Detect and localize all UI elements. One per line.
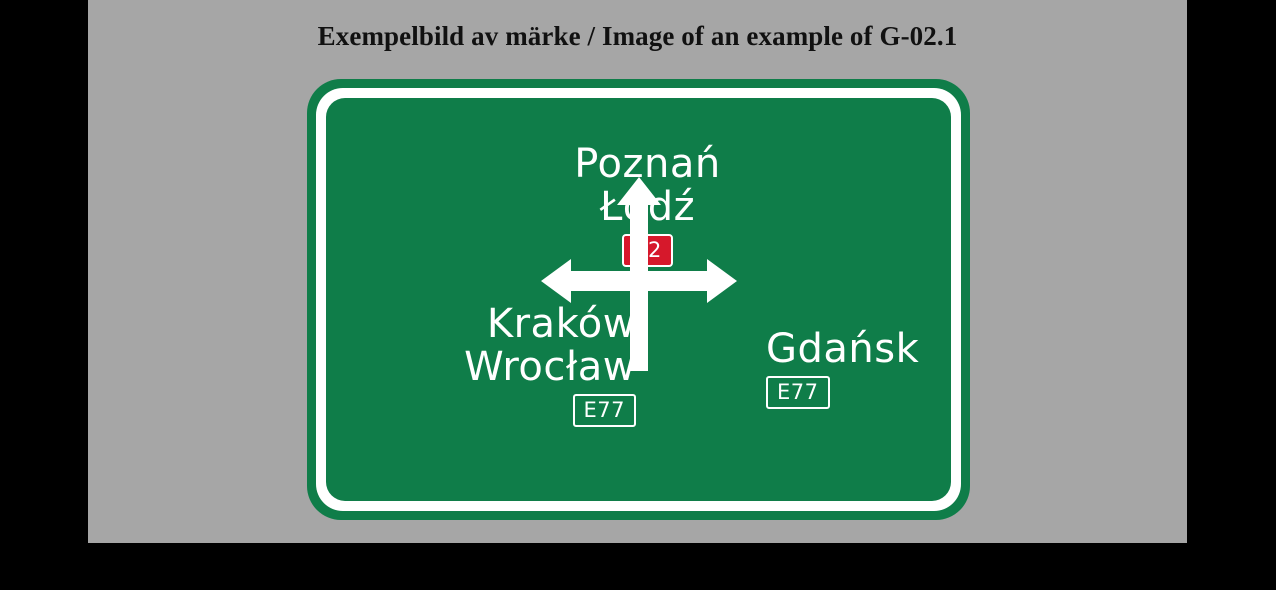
image-canvas: Exempelbild av märke / Image of an examp… bbox=[88, 0, 1187, 543]
sign-face: Poznań Łódź A2 Kraków Wrocław E77 bbox=[326, 98, 951, 501]
route-badge-row: E77 bbox=[386, 394, 636, 427]
route-badge-euroroute: E77 bbox=[573, 394, 637, 427]
arrow-cross-icon bbox=[541, 177, 737, 371]
page-root: Exempelbild av märke / Image of an examp… bbox=[0, 0, 1276, 590]
road-sign: Poznań Łódź A2 Kraków Wrocław E77 bbox=[307, 79, 970, 520]
destination-group-right: Gdańsk E77 bbox=[766, 328, 951, 409]
route-badge-row: E77 bbox=[766, 376, 951, 409]
sign-white-border: Poznań Łódź A2 Kraków Wrocław E77 bbox=[316, 88, 961, 511]
destination-label: Gdańsk bbox=[766, 328, 951, 371]
page-title: Exempelbild av märke / Image of an examp… bbox=[88, 20, 1187, 52]
route-badge-euroroute: E77 bbox=[766, 376, 830, 409]
direction-arrow-cross bbox=[541, 177, 737, 371]
